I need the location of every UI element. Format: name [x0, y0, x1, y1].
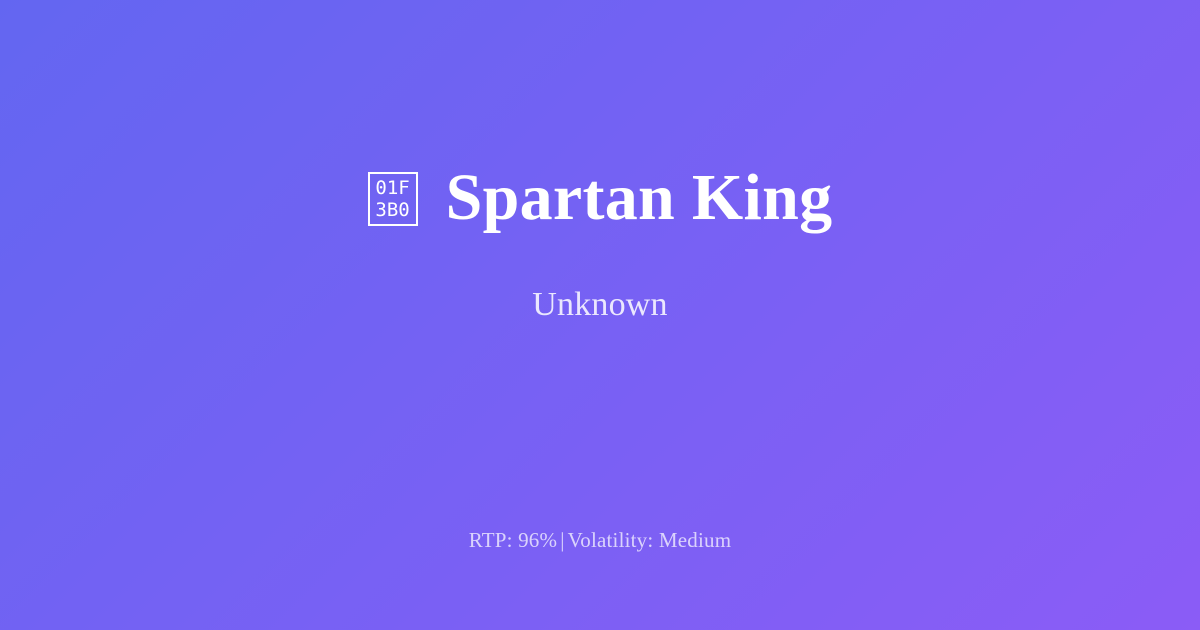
- og-preview-card: 01F 3B0 Spartan King Unknown RTP: 96%|Vo…: [0, 0, 1200, 630]
- title-row: 01F 3B0 Spartan King: [368, 163, 833, 233]
- game-meta-line: RTP: 96%|Volatility: Medium: [0, 528, 1200, 553]
- game-rtp: RTP: 96%: [469, 528, 557, 552]
- slot-machine-icon-codepoint-lo: 3B0: [375, 199, 409, 221]
- meta-separator: |: [557, 528, 567, 552]
- slot-machine-icon: 01F 3B0: [368, 172, 418, 226]
- game-provider: Unknown: [532, 285, 668, 326]
- hero-stack: 01F 3B0 Spartan King Unknown: [0, 0, 1200, 496]
- game-title: Spartan King: [446, 163, 833, 233]
- slot-machine-icon-codepoint-hi: 01F: [375, 177, 409, 199]
- game-volatility: Volatility: Medium: [568, 528, 732, 552]
